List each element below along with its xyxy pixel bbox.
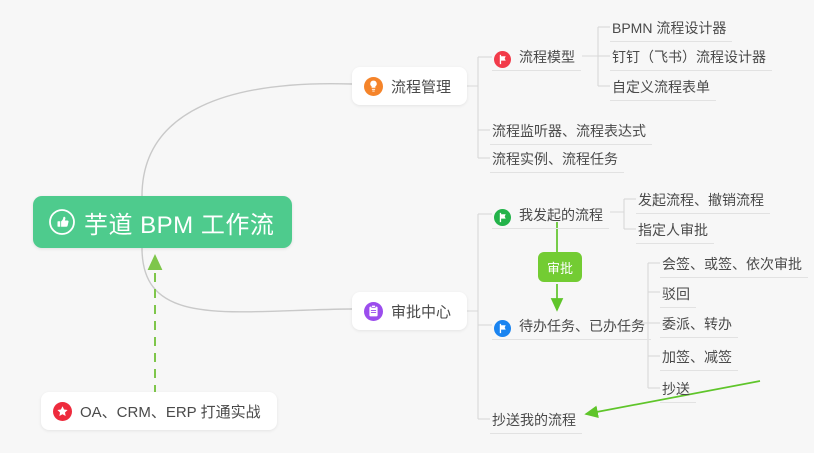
label-reject: 驳回: [662, 287, 690, 305]
node-cc-to-me-process[interactable]: 抄送我的流程: [490, 404, 582, 434]
label-process-model: 流程模型: [519, 50, 575, 68]
approval-badge: 审批: [538, 252, 582, 282]
label-bpmn-designer: BPMN 流程设计器: [612, 21, 726, 39]
node-start-cancel-process[interactable]: 发起流程、撤销流程: [636, 184, 770, 214]
node-dingtalk-feishu-designer[interactable]: 钉钉（飞书）流程设计器: [610, 41, 772, 71]
edge-root-to-approval-center: [142, 248, 352, 312]
label-custom-process-form: 自定义流程表单: [612, 80, 710, 98]
edge-process-model-trunk: [582, 27, 598, 86]
node-add-remove-sign[interactable]: 加签、减签: [660, 341, 738, 371]
lightbulb-icon: [364, 77, 383, 96]
label-dingtalk-feishu-designer: 钉钉（飞书）流程设计器: [612, 50, 766, 68]
label-countersign-orsign-sequential: 会签、或签、依次审批: [662, 257, 802, 275]
label-delegate-transfer: 委派、转办: [662, 317, 732, 335]
node-process-listener-expression[interactable]: 流程监听器、流程表达式: [490, 115, 652, 145]
thumbs-up-icon: [49, 209, 75, 235]
node-carbon-copy[interactable]: 抄送: [660, 373, 696, 403]
node-bpmn-designer[interactable]: BPMN 流程设计器: [610, 12, 732, 42]
node-todo-done-tasks[interactable]: 待办任务、已办任务: [492, 310, 651, 340]
label-process-instance-task: 流程实例、流程任务: [492, 152, 618, 170]
branch-node-process-management[interactable]: 流程管理: [352, 67, 467, 105]
node-reject[interactable]: 驳回: [660, 278, 696, 308]
node-assignee-approval[interactable]: 指定人审批: [636, 214, 714, 244]
label-add-remove-sign: 加签、减签: [662, 350, 732, 368]
label-cc-to-me-process: 抄送我的流程: [492, 413, 576, 431]
star-icon: [53, 402, 72, 421]
root-label: 芋道 BPM 工作流: [84, 205, 274, 240]
approval-badge-label: 审批: [547, 258, 573, 277]
flag-icon: [494, 209, 511, 226]
mindmap-canvas: 芋道 BPM 工作流 流程管理 流程模型 BPMN 流程设计器 钉钉（飞书）流程…: [0, 0, 814, 453]
edge-my-initiated-trunk: [610, 199, 624, 229]
node-process-model[interactable]: 流程模型: [492, 41, 581, 71]
flag-icon: [494, 51, 511, 68]
label-my-initiated-process: 我发起的流程: [519, 208, 603, 226]
edge-root-to-process-management: [142, 84, 352, 196]
label-todo-done-tasks: 待办任务、已办任务: [519, 319, 645, 337]
branch-label-approval-center: 审批中心: [391, 301, 451, 322]
label-assignee-approval: 指定人审批: [638, 223, 708, 241]
clipboard-icon: [364, 302, 383, 321]
label-carbon-copy: 抄送: [662, 382, 690, 400]
node-process-instance-task[interactable]: 流程实例、流程任务: [490, 143, 624, 173]
label-start-cancel-process: 发起流程、撤销流程: [638, 193, 764, 211]
root-node[interactable]: 芋道 BPM 工作流: [33, 196, 292, 248]
branch-node-approval-center[interactable]: 审批中心: [352, 292, 467, 330]
branch-label-process-management: 流程管理: [391, 76, 451, 97]
node-countersign-orsign-sequential[interactable]: 会签、或签、依次审批: [660, 248, 808, 278]
node-delegate-transfer[interactable]: 委派、转办: [660, 308, 738, 338]
flag-icon: [494, 320, 511, 337]
label-process-listener-expression: 流程监听器、流程表达式: [492, 124, 646, 142]
bottom-note-node[interactable]: OA、CRM、ERP 打通实战: [41, 392, 277, 430]
node-my-initiated-process[interactable]: 我发起的流程: [492, 199, 609, 229]
node-custom-process-form[interactable]: 自定义流程表单: [610, 71, 716, 101]
bottom-note-label: OA、CRM、ERP 打通实战: [80, 401, 261, 422]
